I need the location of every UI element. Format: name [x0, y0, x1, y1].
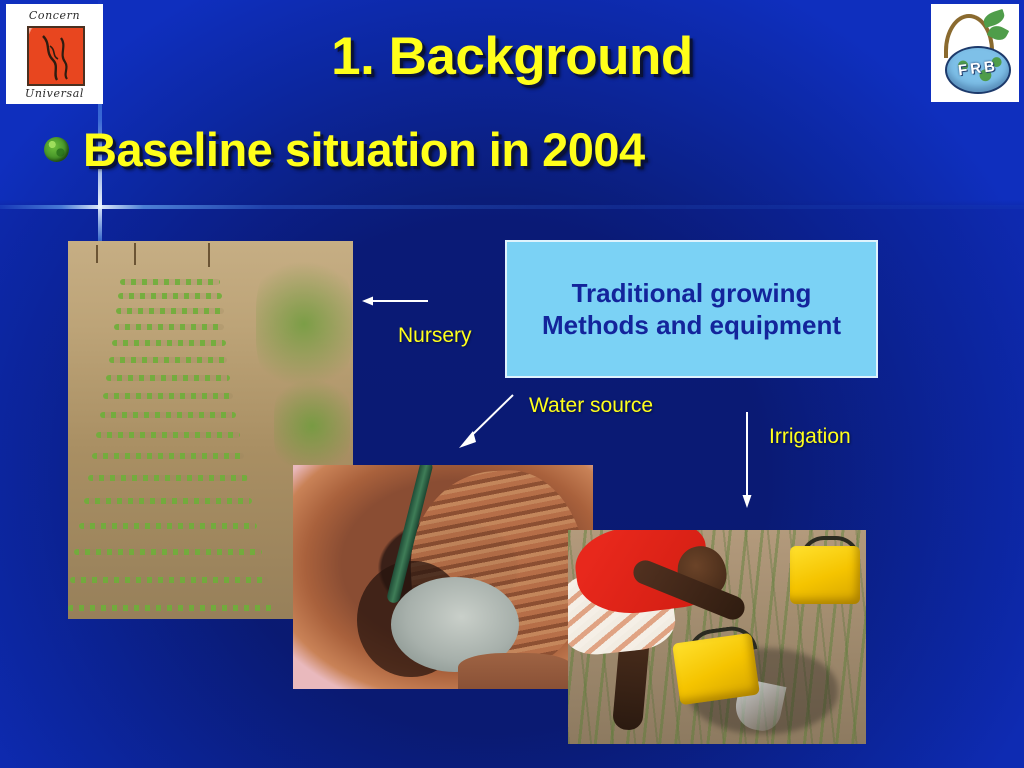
- green-sphere-bullet-icon: [44, 137, 69, 162]
- slide-subtitle: Baseline situation in 2004: [83, 122, 645, 177]
- slide-title: 1. Background: [0, 26, 1024, 87]
- arrow-to-water-source-icon: [455, 392, 517, 448]
- label-irrigation: Irrigation: [769, 425, 851, 449]
- arrow-to-irrigation-icon: [740, 412, 754, 508]
- photo-irrigation: [568, 530, 866, 744]
- horizontal-accent-line: [0, 205, 1024, 209]
- photo-well: [293, 465, 593, 689]
- concern-universal-logo-line2: Universal: [6, 87, 103, 100]
- photo-irrigation-yellow-bucket: [790, 546, 860, 604]
- photo-well-lip: [458, 653, 573, 689]
- label-nursery: Nursery: [398, 324, 472, 348]
- slide-subtitle-row: Baseline situation in 2004: [44, 122, 944, 177]
- slide-canvas: Concern Universal FRB 1. Background Base…: [0, 0, 1024, 768]
- photo-irrigation-yellow-bucket: [672, 633, 760, 706]
- traditional-methods-textbox: Traditional growing Methods and equipmen…: [505, 240, 878, 378]
- label-water-source: Water source: [529, 394, 653, 418]
- concern-universal-logo-line1: Concern: [6, 9, 103, 22]
- arrow-to-nursery-icon: [362, 294, 430, 308]
